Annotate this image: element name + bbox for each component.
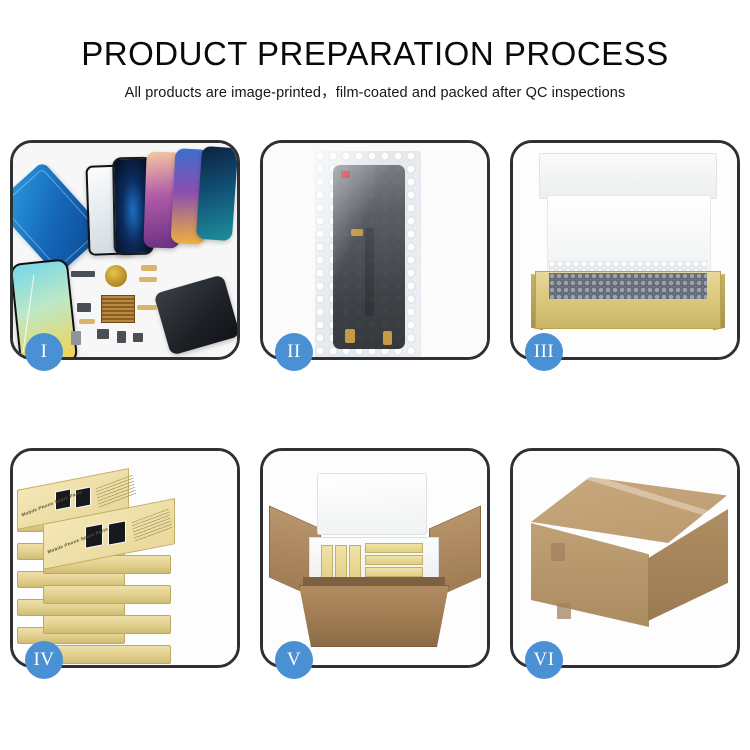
step-4-image: Mobile Phone Spare Parts Mobile Phone Sp… (13, 451, 237, 665)
red-label-tag (341, 171, 350, 178)
speaker-coil-part (105, 265, 127, 287)
process-step-card-2[interactable]: II (260, 140, 490, 360)
process-step-card-5[interactable]: V (260, 448, 490, 668)
step-5-image (263, 451, 487, 665)
flex-cable-3 (137, 305, 157, 310)
box-front-screen-img-2 (108, 520, 126, 545)
foam-box-lid (317, 473, 427, 535)
process-step-card-3[interactable]: III (510, 140, 740, 360)
chip-part-2 (77, 303, 91, 312)
chip-part-5 (133, 333, 143, 342)
page-title: PRODUCT PREPARATION PROCESS (0, 34, 750, 74)
phone-back-housing (154, 274, 237, 355)
step-3-image (513, 143, 737, 357)
camera-module-part (71, 331, 81, 345)
lcd-screen (333, 165, 405, 349)
step-badge-5: V (275, 641, 313, 679)
bubble-wrap-scene (263, 143, 487, 357)
flex-cable-2 (139, 277, 157, 282)
step-6-image (513, 451, 737, 665)
retail-box-5 (365, 555, 423, 565)
carton-front-face (531, 523, 649, 627)
process-step-card-6[interactable]: VI (510, 448, 740, 668)
box-front-3 (43, 615, 171, 634)
phone-teal (196, 146, 237, 241)
step-badge-4: IV (25, 641, 63, 679)
carton-body (299, 585, 449, 647)
foam-tray-scene (513, 143, 737, 357)
carton-tape-patch-bottom (557, 603, 571, 619)
sealed-carton-scene (513, 451, 737, 665)
process-step-grid: I II (10, 140, 740, 668)
page-subtitle: All products are image-printed，film-coat… (0, 84, 750, 102)
process-step-card-1[interactable]: I (10, 140, 240, 360)
gold-connector-2 (345, 329, 355, 343)
carton-tape-patch-top (551, 543, 565, 561)
step-1-image (13, 143, 237, 357)
retail-box-4 (365, 543, 423, 553)
gold-connector-1 (351, 229, 363, 236)
carton-packing-scene (263, 451, 487, 665)
step-badge-1: I (25, 333, 63, 371)
chip-part-3 (97, 329, 109, 339)
step-badge-3: III (525, 333, 563, 371)
step-2-image (263, 143, 487, 357)
connector-grid-part (101, 295, 135, 323)
gold-connector-3 (383, 331, 392, 345)
header: PRODUCT PREPARATION PROCESS All products… (0, 34, 750, 102)
flex-cable-4 (79, 319, 95, 324)
process-step-card-4[interactable]: Mobile Phone Spare Parts Mobile Phone Sp… (10, 448, 240, 668)
grey-foam-pad (549, 273, 707, 299)
bubble-wrap-sheet (315, 151, 421, 357)
chip-part-1 (71, 271, 95, 277)
retail-box-6 (365, 567, 423, 577)
box-stack: Mobile Phone Spare Parts Mobile Phone Sp… (13, 451, 237, 665)
step-badge-2: II (275, 333, 313, 371)
box-lid-flap (539, 153, 717, 199)
box-front-4 (43, 585, 171, 604)
product-preparation-infographic: PRODUCT PREPARATION PROCESS All products… (0, 0, 750, 750)
chip-part-4 (117, 331, 126, 343)
step-badge-6: VI (525, 641, 563, 679)
flex-cable-1 (141, 265, 157, 271)
stacked-boxes-scene: Mobile Phone Spare Parts Mobile Phone Sp… (13, 451, 237, 665)
components-scene (13, 143, 237, 357)
